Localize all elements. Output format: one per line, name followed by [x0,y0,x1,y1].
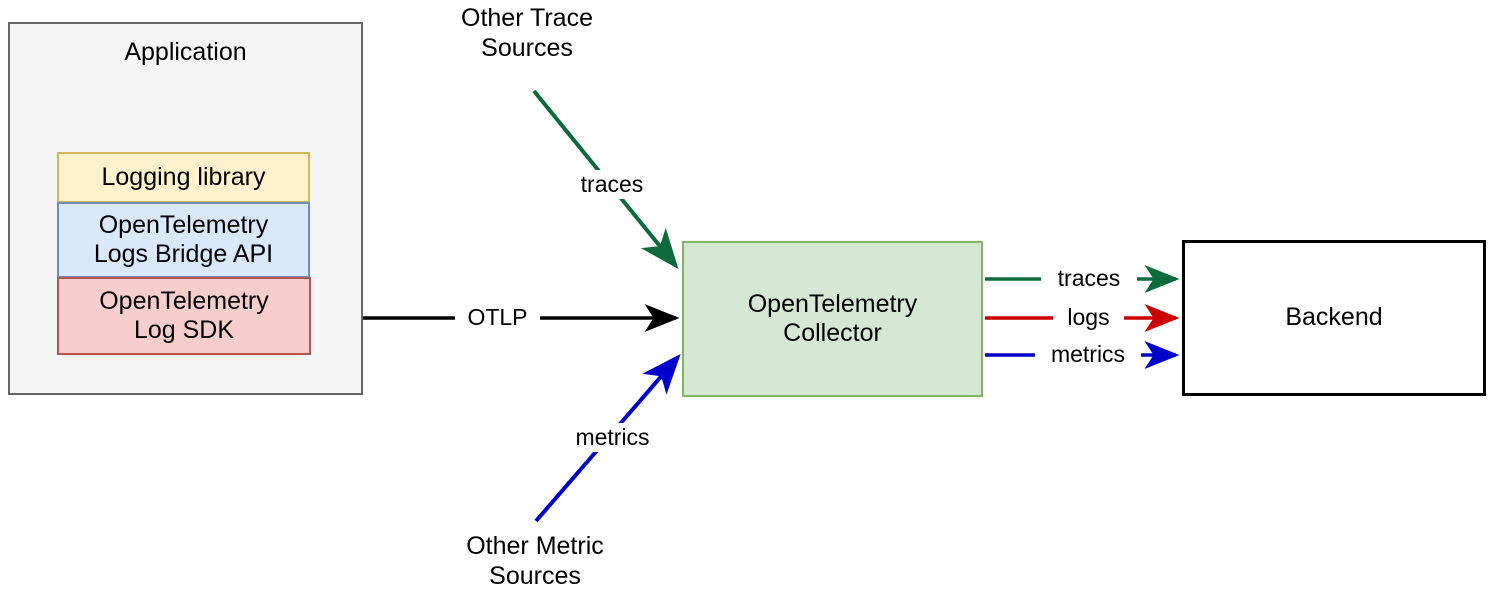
label-other-trace-sources: Other Trace Sources [432,4,622,63]
backend-label: Backend [1285,303,1382,333]
node-logging-library[interactable]: Logging library [57,152,310,203]
edge-label-traces-out: traces [1041,264,1137,293]
diagram-canvas: Application Logging library OpenTelemetr… [0,0,1493,613]
edge-label-otlp: OTLP [455,303,540,332]
collector-label: OpenTelemetry Collector [748,290,918,349]
label-other-metric-sources: Other Metric Sources [440,532,630,591]
edge-label-metrics-out: metrics [1035,340,1141,369]
node-logs-bridge-api[interactable]: OpenTelemetry Logs Bridge API [57,202,310,278]
node-log-sdk[interactable]: OpenTelemetry Log SDK [57,277,311,355]
logs-bridge-api-label: OpenTelemetry Logs Bridge API [94,211,273,270]
edge-label-logs-out: logs [1053,303,1124,332]
log-sdk-label: OpenTelemetry Log SDK [99,287,269,346]
node-backend[interactable]: Backend [1182,240,1486,396]
edge-label-metrics-in: metrics [560,423,665,452]
logging-library-label: Logging library [102,163,266,193]
application-label: Application [124,38,246,68]
node-opentelemetry-collector[interactable]: OpenTelemetry Collector [682,241,983,397]
edge-label-traces-in: traces [563,170,661,199]
